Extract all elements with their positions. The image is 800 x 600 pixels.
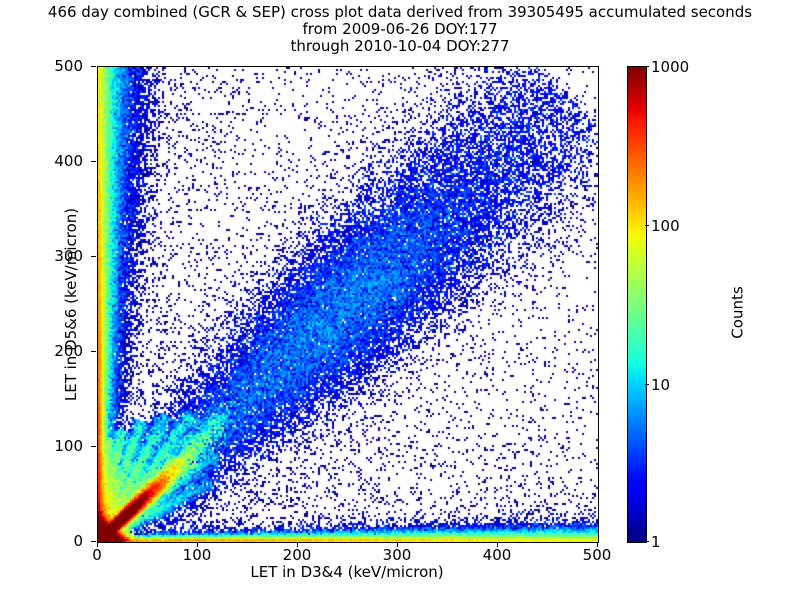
xticklabel-500: 500 bbox=[562, 546, 632, 564]
cbticklabel-1000: 1000 bbox=[651, 58, 689, 76]
cbticklabel-1: 1 bbox=[651, 533, 661, 551]
colorbar-label: Counts bbox=[729, 286, 747, 338]
xticklabel-200: 200 bbox=[262, 546, 332, 564]
xticklabel-400: 400 bbox=[462, 546, 532, 564]
cbtick-10 bbox=[645, 384, 649, 385]
colorbar-label-wrapper: Counts bbox=[728, 188, 747, 438]
xticklabel-100: 100 bbox=[162, 546, 232, 564]
cbtick-100 bbox=[645, 225, 649, 226]
colorbar bbox=[627, 66, 647, 543]
xticklabel-300: 300 bbox=[362, 546, 432, 564]
y-axis-label: LET in D5&6 (keV/micron) bbox=[62, 208, 80, 401]
colorbar-gradient bbox=[628, 67, 646, 542]
ytick-300 bbox=[91, 256, 96, 257]
figure-canvas: 466 day combined (GCR & SEP) cross plot … bbox=[0, 0, 800, 600]
x-axis-label: LET in D3&4 (keV/micron) bbox=[97, 563, 597, 581]
density-heatmap bbox=[98, 67, 598, 542]
title-line-3: through 2010-10-04 DOY:277 bbox=[0, 38, 800, 55]
ytick-100 bbox=[91, 446, 96, 447]
ytick-200 bbox=[91, 351, 96, 352]
ytick-400 bbox=[91, 161, 96, 162]
cbticklabel-10: 10 bbox=[651, 376, 670, 394]
page-title: 466 day combined (GCR & SEP) cross plot … bbox=[0, 4, 800, 55]
cbticklabel-100: 100 bbox=[651, 217, 680, 235]
plot-axes bbox=[97, 66, 599, 543]
ytick-0 bbox=[91, 541, 96, 542]
title-line-2: from 2009-06-26 DOY:177 bbox=[0, 21, 800, 38]
ytick-500 bbox=[91, 66, 96, 67]
y-axis-label-wrapper: LET in D5&6 (keV/micron) bbox=[61, 67, 80, 542]
cbtick-1000 bbox=[645, 66, 649, 67]
cbtick-1 bbox=[645, 541, 649, 542]
title-line-1: 466 day combined (GCR & SEP) cross plot … bbox=[0, 4, 800, 21]
